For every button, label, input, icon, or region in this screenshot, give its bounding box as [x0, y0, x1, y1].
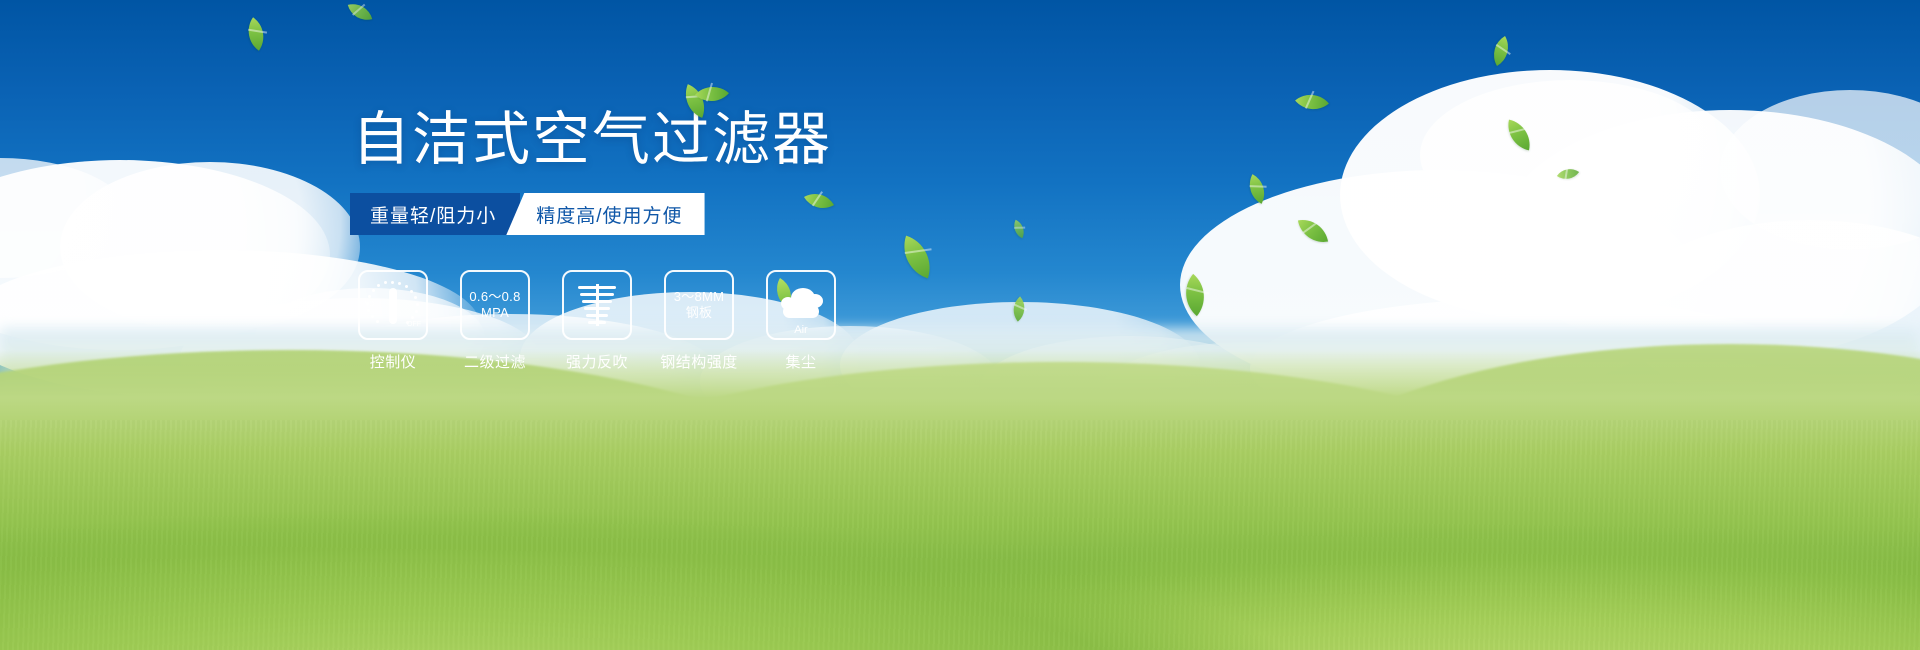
tag-high-precision-easy-use[interactable]: 精度高/使用方便	[506, 193, 704, 235]
title-block: 自洁式空气过滤器	[352, 110, 832, 171]
feature-list: NO OFF 控制仪 0.6〜0.8 MPA 二级过滤	[358, 270, 836, 372]
steel-thickness: 3〜8MM	[674, 289, 725, 305]
feature-label: 强力反吹	[566, 351, 628, 372]
pressure-value: 0.6〜0.8	[469, 289, 520, 305]
tag-lightweight-low-resistance[interactable]: 重量轻/阻力小	[350, 193, 520, 235]
feature-icon-box	[562, 270, 632, 340]
dial-on-label: NO	[364, 301, 375, 308]
feature-label: 控制仪	[370, 351, 417, 372]
feature-icon-box: 3〜8MM 钢板	[664, 270, 734, 340]
pressure-unit: MPA	[481, 305, 509, 321]
banner-content: 自洁式空气过滤器 重量轻/阻力小 精度高/使用方便	[0, 0, 1920, 650]
feature-item-steel-strength[interactable]: 3〜8MM 钢板 钢结构强度	[664, 270, 734, 372]
feature-item-controller[interactable]: NO OFF 控制仪	[358, 270, 428, 372]
air-cloud-icon: Air	[777, 288, 825, 322]
feature-item-secondary-filter[interactable]: 0.6〜0.8 MPA 二级过滤	[460, 270, 530, 372]
feature-label: 钢结构强度	[660, 351, 738, 372]
feature-icon-box: NO OFF	[358, 270, 428, 340]
feature-icon-box: 0.6〜0.8 MPA	[460, 270, 530, 340]
dial-gauge-icon: NO OFF	[365, 279, 421, 331]
air-label: Air	[777, 324, 825, 336]
feature-label: 集尘	[785, 351, 816, 372]
hero-banner: 自洁式空气过滤器 重量轻/阻力小 精度高/使用方便	[0, 0, 1920, 650]
tag-group: 重量轻/阻力小 精度高/使用方便	[350, 193, 705, 235]
feature-icon-box: Air	[766, 270, 836, 340]
feature-item-blowback[interactable]: 强力反吹	[562, 270, 632, 372]
page-title: 自洁式空气过滤器	[352, 110, 832, 171]
feature-item-dust-collection[interactable]: Air 集尘	[766, 270, 836, 372]
feature-label: 二级过滤	[464, 351, 526, 372]
steel-material: 钢板	[686, 305, 713, 321]
blowback-icon	[574, 282, 620, 328]
dial-off-label: OFF	[407, 321, 421, 328]
